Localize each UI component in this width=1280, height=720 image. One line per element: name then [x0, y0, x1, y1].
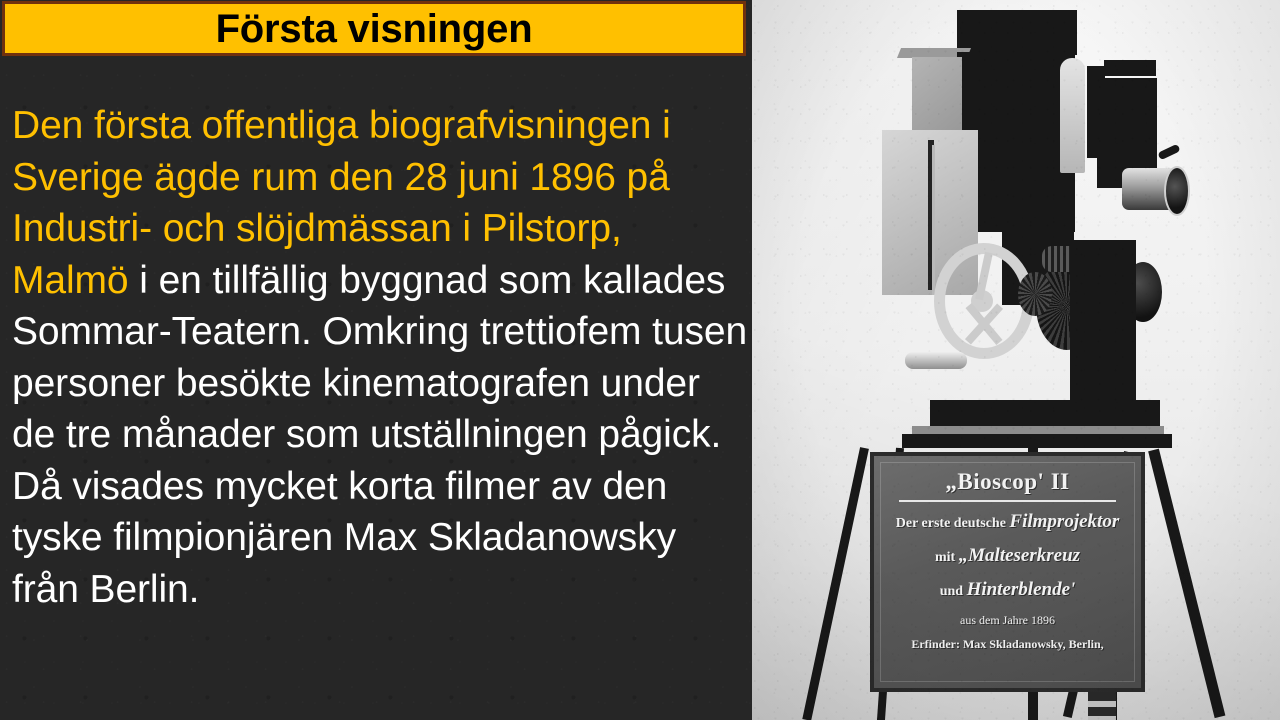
plaque-line-3-bold: „Malteserkreuz	[959, 545, 1080, 566]
projector-lower-block	[1070, 240, 1136, 425]
title-banner: Första visningen	[2, 1, 746, 56]
projector-upper-bracket	[1104, 60, 1156, 76]
plaque-line-2-bold: Filmprojektor	[1009, 511, 1119, 532]
projector-crank-handle	[905, 352, 967, 369]
plaque-divider	[899, 500, 1116, 502]
text-panel: Första visningen Den första offentliga b…	[0, 0, 752, 720]
plaque-line-3-prefix: mit	[935, 550, 959, 565]
plaque-line-4-prefix: und	[940, 584, 967, 599]
plaque-line-2: Der erste deutsche Filmprojektor	[881, 511, 1134, 533]
projector-small-gear	[1018, 272, 1052, 316]
plaque-line-inventor: Erfinder: Max Skladanowsky, Berlin,	[881, 637, 1134, 652]
plaque-line-2-prefix: Der erste deutsche	[896, 516, 1010, 531]
plaque-line-year: aus dem Jahre 1896	[881, 613, 1134, 628]
projector-top-hood	[957, 10, 1077, 55]
body-text-rest: i en tillfällig byggnad som kallades Som…	[12, 259, 747, 611]
projector-rod-vertical	[932, 145, 935, 295]
plaque-line-title: „Bioscop' II	[881, 469, 1134, 495]
plaque-line-3: mit „Malteserkreuz	[881, 545, 1134, 567]
page-title: Första visningen	[216, 9, 533, 49]
presentation-slide: Första visningen Den första offentliga b…	[0, 0, 1280, 720]
projector-base-rail	[902, 434, 1172, 448]
projector-lens-front	[1164, 166, 1190, 216]
plaque-line-4: und Hinterblende'	[881, 579, 1134, 601]
bioscop-plaque: „Bioscop' II Der erste deutsche Filmproj…	[870, 452, 1145, 692]
projector-photograph: „Bioscop' II Der erste deutsche Filmproj…	[752, 0, 1280, 720]
body-paragraph: Den första offentliga biografvisningen i…	[12, 100, 748, 615]
plaque-line-4-bold: Hinterblende'	[967, 579, 1076, 600]
plaque-inner-frame: „Bioscop' II Der erste deutsche Filmproj…	[880, 462, 1135, 682]
projector-bright-lever	[1060, 58, 1085, 173]
